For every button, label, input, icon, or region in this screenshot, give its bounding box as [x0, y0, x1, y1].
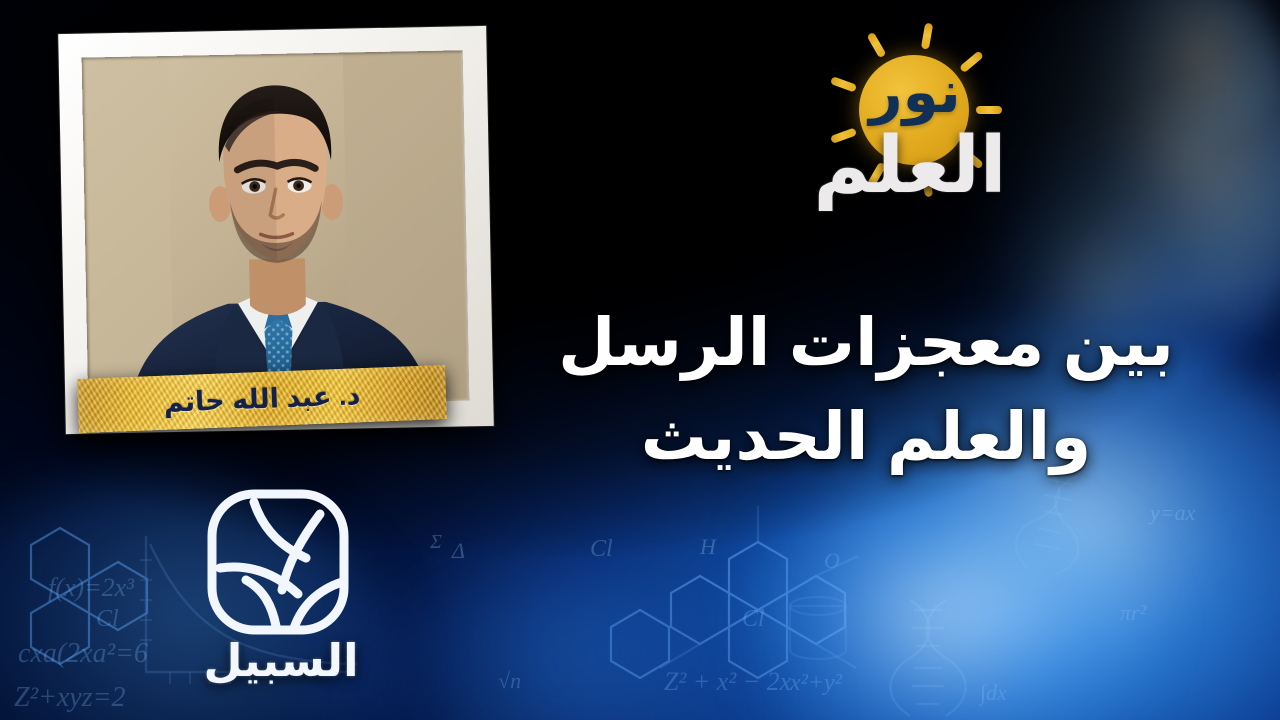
channel-name-text: السبيل [186, 638, 376, 683]
video-title: بين معجزات الرسل والعلم الحديث [506, 296, 1226, 483]
noor-al-ilm-logo: نور العلم [790, 18, 1040, 248]
title-line-1: بين معجزات الرسل [506, 296, 1226, 390]
portrait-illustration [82, 50, 470, 407]
title-line-2: والعلم الحديث [506, 390, 1226, 484]
al-sabeel-mark-icon [202, 486, 354, 638]
portrait-photo [82, 50, 470, 407]
thumbnail-canvas: f(x)=2x³ cxa(2xa²=6 Z²+xyz=2 Z² + x² − 2… [0, 0, 1280, 720]
logo-word-ilm: العلم [776, 126, 1044, 204]
channel-logo: السبيل [186, 486, 376, 700]
logo-word-noor: نور [830, 64, 1000, 122]
